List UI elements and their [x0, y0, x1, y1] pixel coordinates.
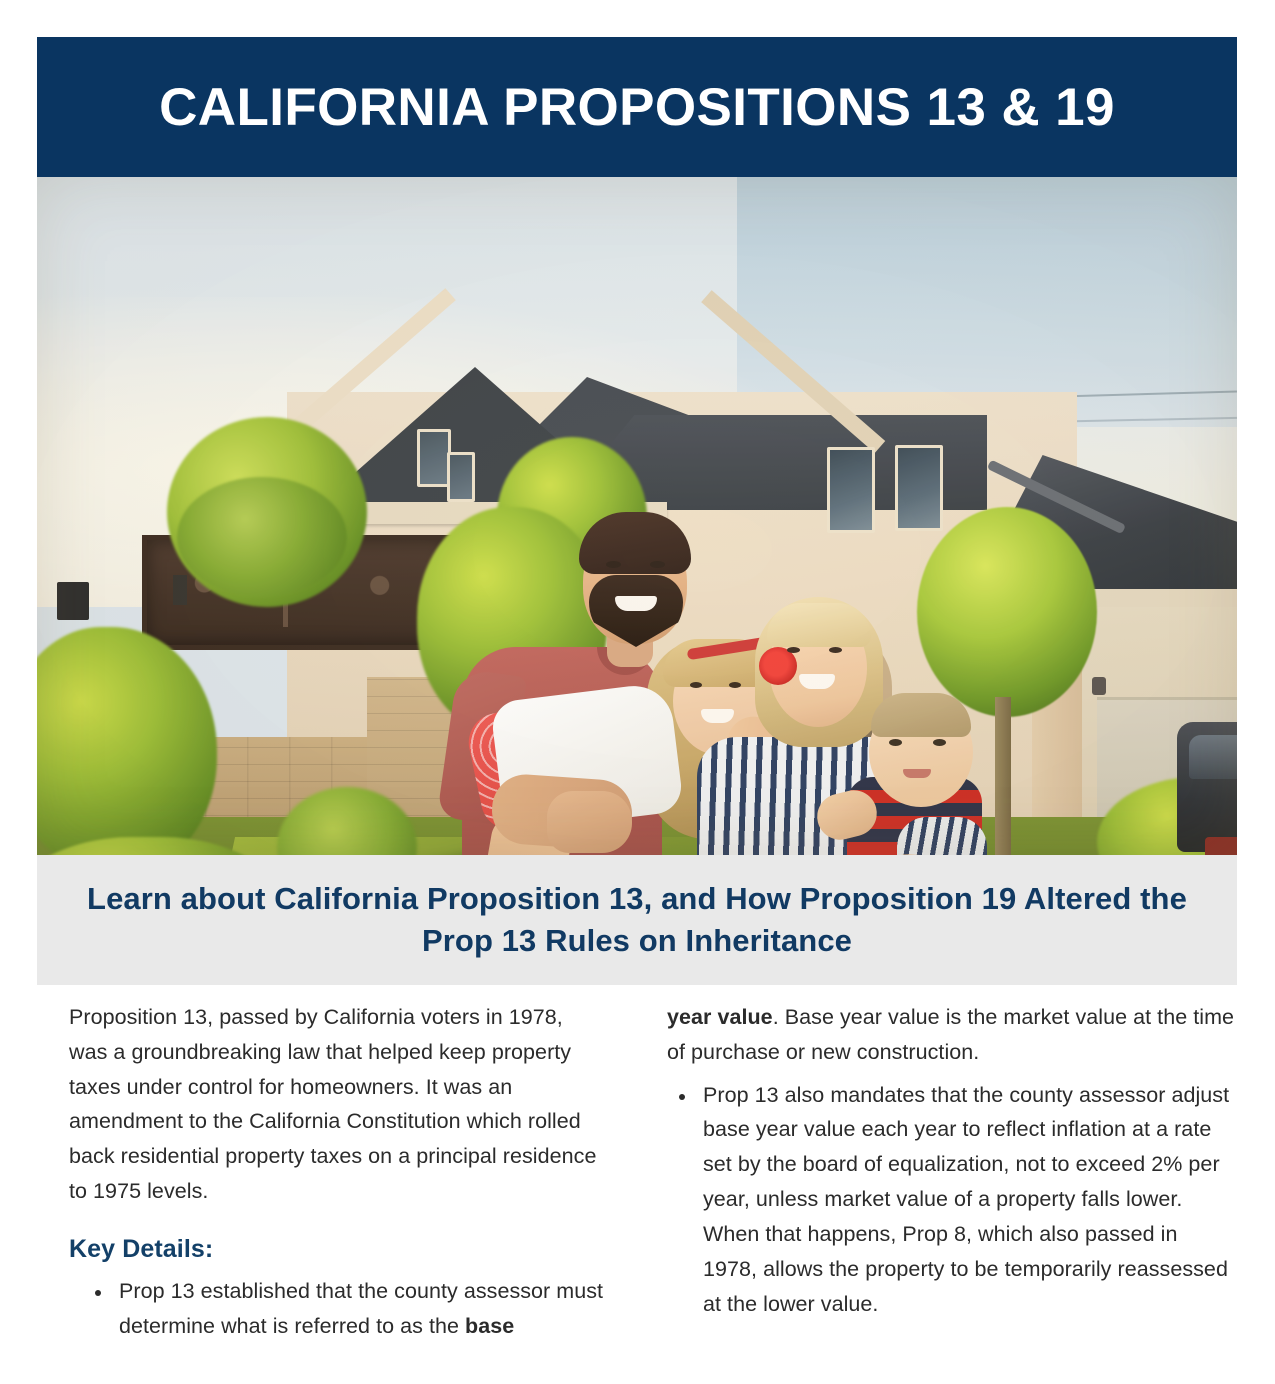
girl-eye-right [729, 682, 741, 688]
shrub-left-tall [37, 627, 217, 855]
subtitle-band: Learn about California Proposition 13, a… [37, 855, 1237, 985]
infographic-page: CALIFORNIA PROPOSITIONS 13 & 19 [0, 0, 1275, 1384]
window-upper-right-2 [895, 445, 943, 531]
mother-smile [799, 674, 835, 689]
window-upper-left-2 [447, 452, 475, 502]
car-window [1189, 735, 1237, 779]
key-details-list: Prop 13 established that the county asse… [69, 1274, 607, 1344]
mother-bangs [767, 603, 871, 647]
window-upper-left [417, 429, 451, 487]
window-upper-right-1 [827, 447, 875, 533]
bullet-1-lead: Prop 13 established that the county asse… [119, 1279, 603, 1338]
mailbox-post [173, 575, 187, 605]
tree-right-trunk [995, 697, 1011, 855]
header-banner: CALIFORNIA PROPOSITIONS 13 & 19 [37, 37, 1237, 177]
baby-eye-right [933, 739, 946, 746]
shrub-left-upper [177, 477, 347, 597]
father-hand [547, 791, 632, 853]
baby-mouth [903, 769, 931, 778]
mother-sleeve [897, 817, 987, 855]
mother-eye-left [787, 647, 800, 653]
baby-eye-left [889, 739, 902, 746]
list-item: Prop 13 established that the county asse… [113, 1274, 607, 1344]
mailbox-icon [57, 582, 89, 620]
key-details-heading: Key Details: [69, 1235, 607, 1264]
page-title: CALIFORNIA PROPOSITIONS 13 & 19 [149, 81, 1125, 134]
baby-hair [871, 693, 971, 737]
car-taillight [1205, 837, 1237, 855]
left-column: Proposition 13, passed by California vot… [37, 1000, 607, 1384]
tree-right-foliage [917, 507, 1097, 717]
father-smile [615, 596, 657, 611]
subtitle-text: Learn about California Proposition 13, a… [77, 878, 1197, 961]
mother-eye-right [829, 647, 842, 653]
continued-bold: year value [667, 1005, 773, 1029]
father-eye-left [606, 561, 621, 568]
girl-eye-left [690, 682, 702, 688]
hero-photo [37, 177, 1237, 855]
continued-paragraph: year value. Base year value is the marke… [667, 1000, 1237, 1070]
girl-smile [701, 709, 734, 723]
intro-paragraph: Proposition 13, passed by California vot… [69, 1000, 607, 1209]
right-column: year value. Base year value is the marke… [667, 1000, 1237, 1384]
right-column-list: Prop 13 also mandates that the county as… [667, 1078, 1237, 1322]
garage-lamp-icon [1092, 677, 1106, 695]
list-item: Prop 13 also mandates that the county as… [697, 1078, 1237, 1322]
body-columns: Proposition 13, passed by California vot… [37, 1000, 1237, 1384]
father-eye-right [650, 561, 665, 568]
bullet-1-bold: base [465, 1314, 514, 1338]
